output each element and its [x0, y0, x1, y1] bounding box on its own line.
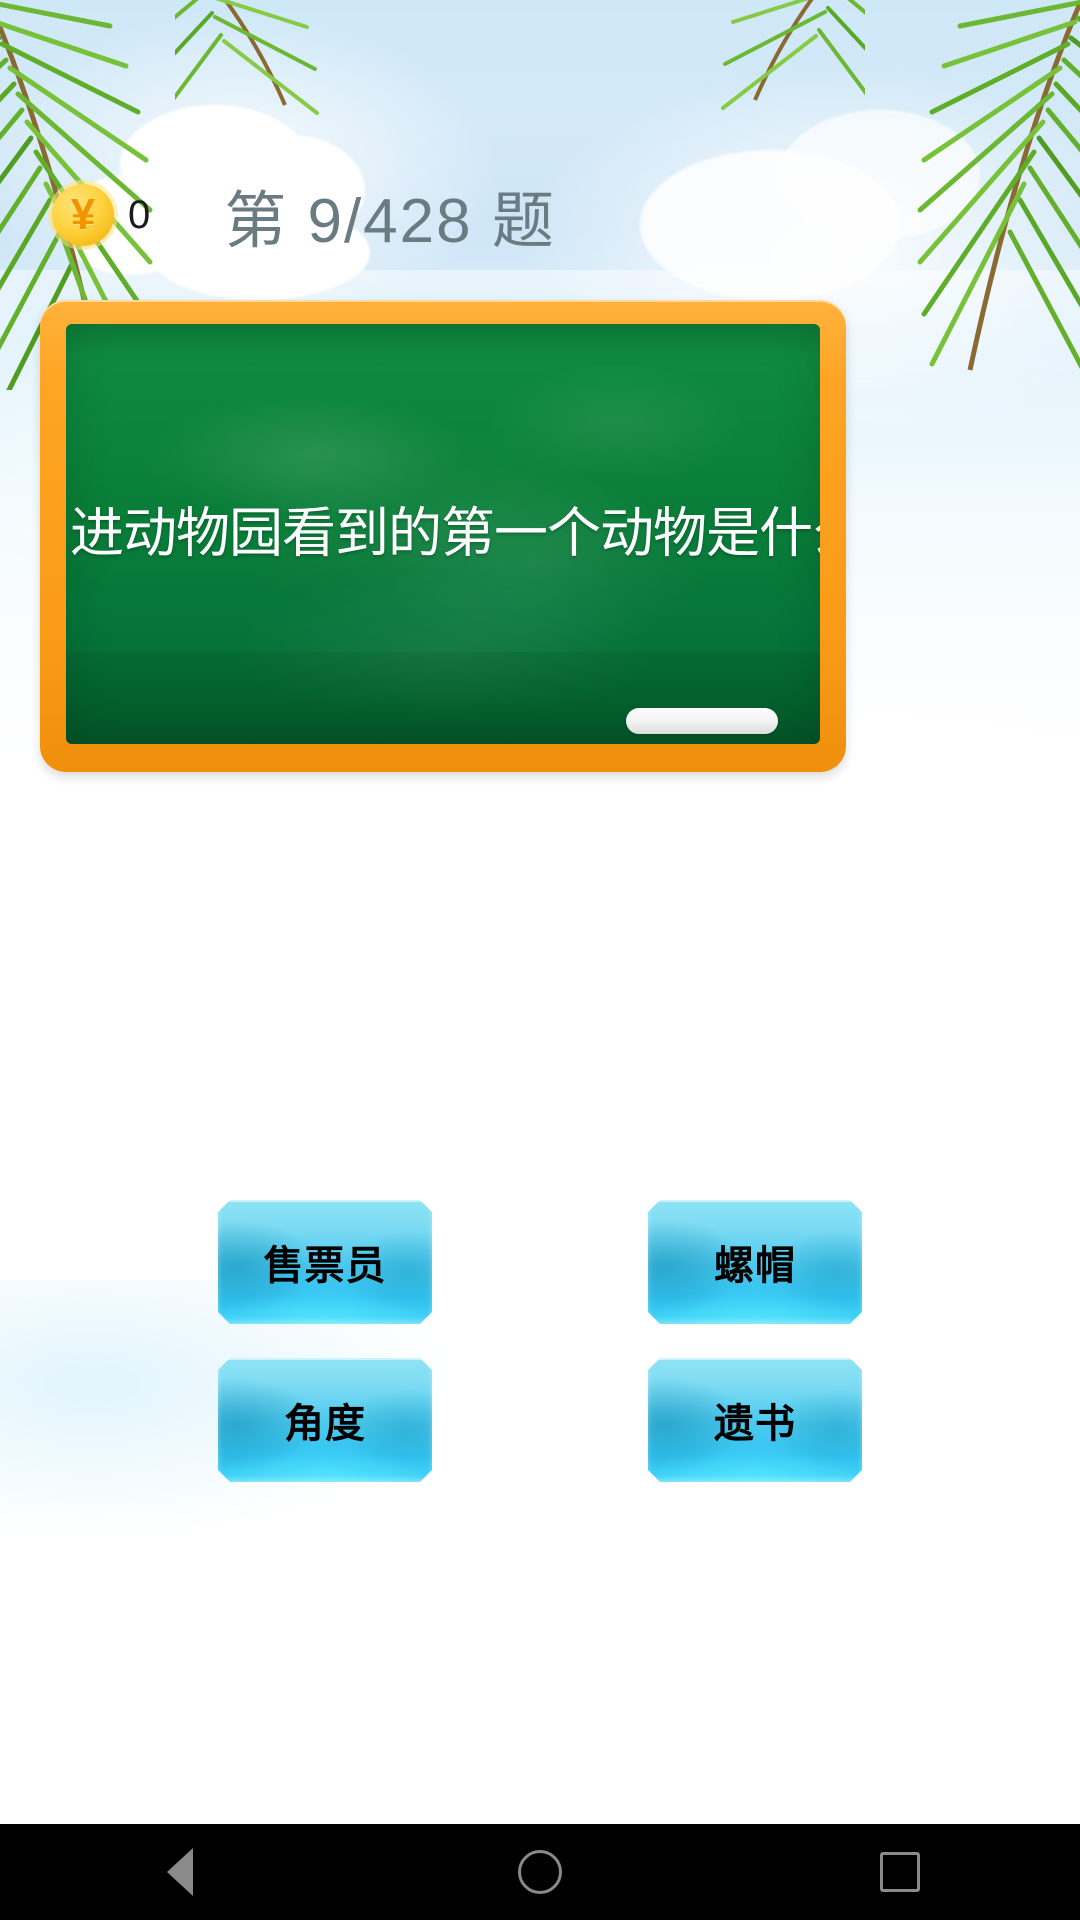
coin-balance[interactable]: ¥ 0 [52, 184, 150, 246]
game-header: ¥ 0 第 9/428 题 [0, 160, 1080, 270]
answer-options: 售票员 螺帽 角度 遗书 [0, 1200, 1080, 1482]
game-screen: ¥ 0 第 9/428 题 进动物园看到的第一个动物是什么？ 售票员 螺帽 角度… [0, 0, 1080, 1920]
answer-button-c[interactable]: 角度 [218, 1358, 432, 1482]
question-progress-label: 第 9/428 题 [224, 170, 556, 260]
blackboard: 进动物园看到的第一个动物是什么？ [66, 324, 820, 744]
answer-button-a[interactable]: 售票员 [218, 1200, 432, 1324]
nav-home-button[interactable] [480, 1824, 600, 1920]
answer-button-d[interactable]: 遗书 [648, 1358, 862, 1482]
chalk-stick-icon [626, 708, 778, 734]
home-circle-icon [518, 1850, 562, 1894]
blackboard-frame: 进动物园看到的第一个动物是什么？ [40, 300, 846, 772]
nav-recents-button[interactable] [840, 1824, 960, 1920]
back-triangle-icon [167, 1848, 193, 1896]
question-text: 进动物园看到的第一个动物是什么？ [66, 500, 820, 568]
chalk-smudge [486, 364, 746, 484]
android-navigation-bar [0, 1824, 1080, 1920]
recents-square-icon [880, 1852, 920, 1892]
answer-button-b[interactable]: 螺帽 [648, 1200, 862, 1324]
palm-frond-icon [175, 0, 405, 155]
nav-back-button[interactable] [120, 1824, 240, 1920]
palm-frond-icon [635, 0, 865, 150]
yen-coin-icon: ¥ [52, 184, 114, 246]
coin-count-label: 0 [128, 193, 150, 238]
chalk-smudge [176, 394, 466, 514]
